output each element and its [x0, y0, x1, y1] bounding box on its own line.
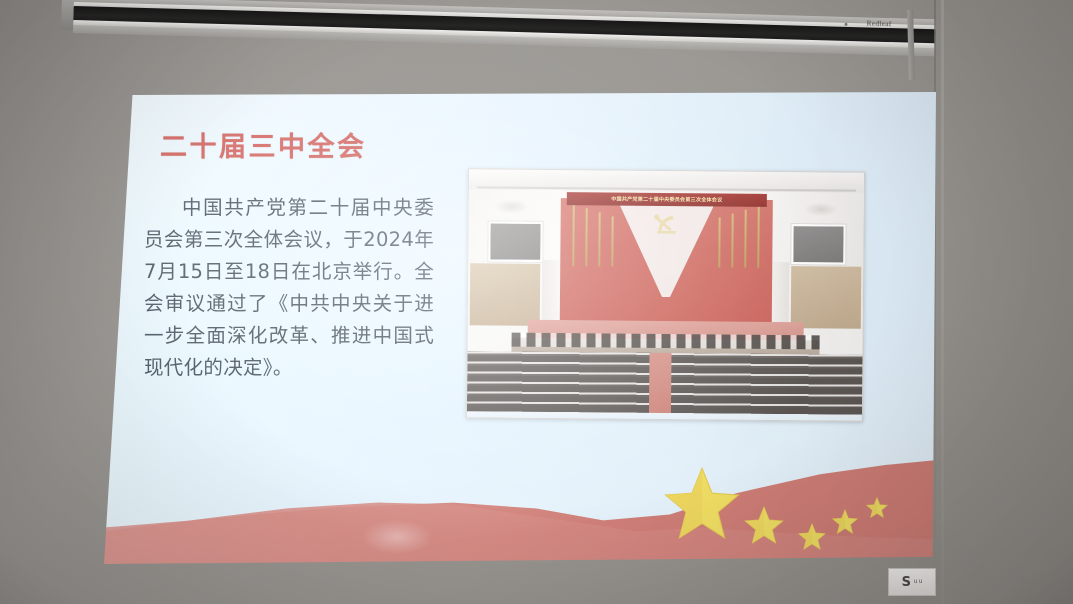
photo-right-wood-panel — [791, 266, 862, 329]
decor-star-small — [866, 497, 888, 518]
page-title: 二十届三中全会 — [160, 125, 367, 164]
wall-sticker-label: S u u — [888, 568, 936, 596]
photo-banner-text: 中国共产党第二十届中央委员会第三次全体会议 — [611, 196, 722, 204]
decor-star-small — [798, 523, 826, 550]
photo-center-aisle — [649, 353, 672, 415]
decor-star-small — [744, 506, 784, 544]
photo-right-sidewall — [767, 192, 864, 329]
photo-seating-left — [467, 351, 652, 415]
photo-session-banner: 中国共产党第二十届中央委员会第三次全体会议 — [567, 192, 767, 207]
hammer-and-sickle-icon — [652, 211, 682, 237]
wall-seam-highlight — [941, 0, 944, 604]
classroom-wall-scene: Redleaf 二十届三中全会 中国共产党第二十届中央委员会第三次全体会议，于2… — [0, 0, 1073, 604]
decor-hill-highlight — [362, 520, 432, 554]
housing-brand-label: Redleaf — [866, 19, 891, 28]
photo-left-sidewall — [468, 189, 565, 326]
decor-star-small — [832, 509, 858, 534]
photo-seating-right — [671, 353, 863, 417]
projected-slide-area: 二十届三中全会 中国共产党第二十届中央委员会第三次全体会议，于2024年7月15… — [104, 92, 936, 564]
photo-left-display-panel — [488, 221, 542, 261]
photo-right-display-panel — [791, 224, 845, 264]
photo-left-wood-panel — [470, 263, 541, 326]
photo-right-wall-medallion — [804, 202, 838, 216]
sticker-sub-text: u u — [914, 579, 922, 586]
slide-decoration-band — [104, 429, 936, 564]
powerpoint-slide: 二十届三中全会 中国共产党第二十届中央委员会第三次全体会议，于2024年7月15… — [104, 92, 936, 564]
decor-star-large — [664, 466, 740, 540]
sticker-glyph-text: S — [902, 575, 911, 590]
slide-body-text: 中国共产党第二十届中央委员会第三次全体会议，于2024年7月15日至18日在北京… — [144, 192, 434, 384]
conference-hall-photo: 中国共产党第二十届中央委员会第三次全体会议 — [466, 168, 865, 421]
photo-left-wall-medallion — [495, 200, 529, 214]
photo-head-table-row — [512, 333, 820, 350]
projection-screen-housing[interactable]: Redleaf — [73, 0, 936, 65]
brand-bullet-icon — [844, 23, 847, 26]
